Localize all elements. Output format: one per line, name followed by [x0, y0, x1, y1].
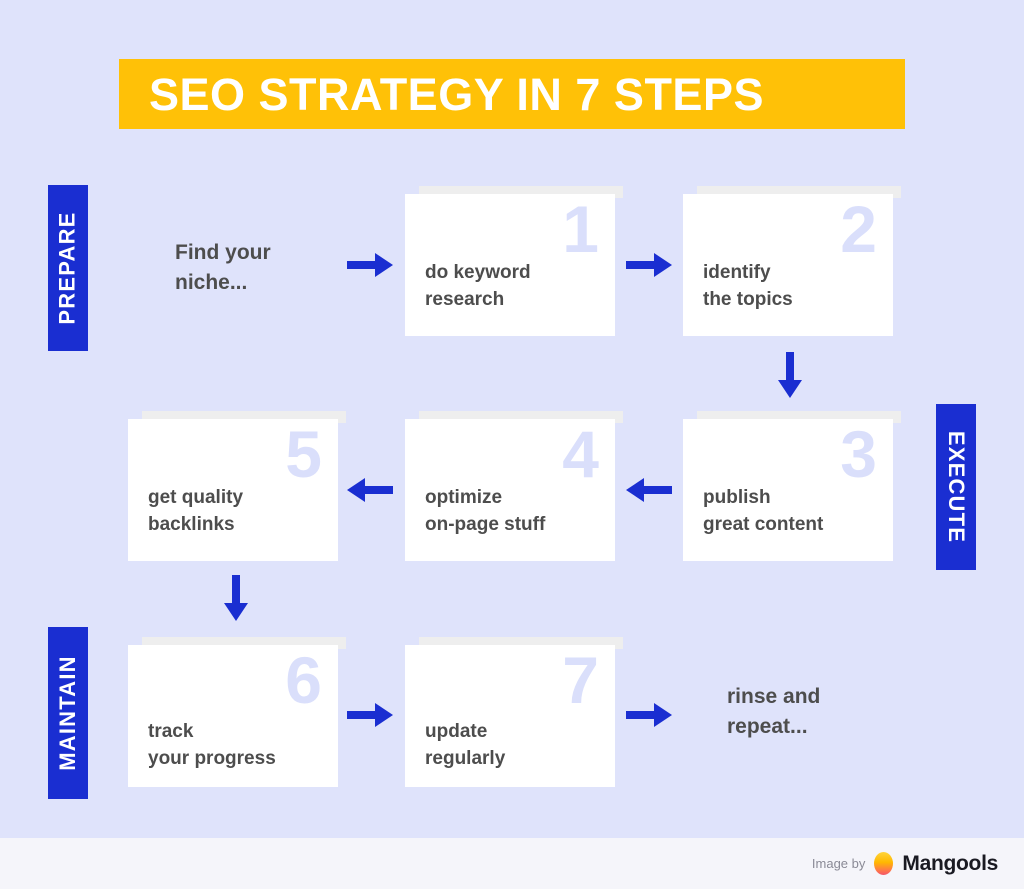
step-card-3: 3 publish great content	[683, 411, 893, 561]
arrow-left-icon	[626, 475, 672, 505]
phase-label-maintain-text: MAINTAIN	[57, 655, 79, 771]
step-text: get quality backlinks	[148, 485, 243, 539]
card-body: 3 publish great content	[683, 419, 893, 561]
step-number: 1	[562, 196, 599, 262]
step-text: do keyword research	[425, 260, 531, 314]
card-body: 4 optimize on-page stuff	[405, 419, 615, 561]
mangools-logo-icon	[874, 852, 893, 875]
page-title: SEO STRATEGY IN 7 STEPS	[149, 72, 764, 117]
step-number: 6	[285, 647, 322, 713]
step-card-4: 4 optimize on-page stuff	[405, 411, 615, 561]
arrow-left-icon	[347, 475, 393, 505]
phase-label-maintain: MAINTAIN	[48, 627, 88, 799]
step-text: identify the topics	[703, 260, 793, 314]
step-text: publish great content	[703, 485, 823, 539]
step-number: 4	[562, 421, 599, 487]
card-body: 6 track your progress	[128, 645, 338, 787]
card-body: 1 do keyword research	[405, 194, 615, 336]
step-card-6: 6 track your progress	[128, 637, 338, 787]
card-body: 2 identify the topics	[683, 194, 893, 336]
infographic-canvas: SEO STRATEGY IN 7 STEPS PREPARE EXECUTE …	[0, 0, 1024, 889]
arrow-down-icon	[775, 352, 805, 398]
step-card-7: 7 update regularly	[405, 637, 615, 787]
step-number: 5	[285, 421, 322, 487]
infographic-stage: SEO STRATEGY IN 7 STEPS PREPARE EXECUTE …	[0, 0, 1024, 838]
phase-label-prepare: PREPARE	[48, 185, 88, 351]
arrow-right-icon	[626, 700, 672, 730]
phase-label-execute-text: EXECUTE	[945, 431, 967, 543]
arrow-right-icon	[626, 250, 672, 280]
step-card-5: 5 get quality backlinks	[128, 411, 338, 561]
step-card-2: 2 identify the topics	[683, 186, 893, 336]
brand-name: Mangools	[902, 852, 998, 876]
footer: Image by Mangools	[0, 838, 1024, 889]
card-body: 7 update regularly	[405, 645, 615, 787]
card-body: 5 get quality backlinks	[128, 419, 338, 561]
start-note: Find your niche...	[175, 238, 271, 298]
step-card-1: 1 do keyword research	[405, 186, 615, 336]
phase-label-execute: EXECUTE	[936, 404, 976, 570]
title-banner: SEO STRATEGY IN 7 STEPS	[119, 59, 905, 129]
credit-label: Image by	[812, 856, 865, 871]
arrow-right-icon	[347, 700, 393, 730]
step-number: 7	[562, 647, 599, 713]
arrow-down-icon	[221, 575, 251, 621]
step-text: track your progress	[148, 719, 276, 773]
step-text: update regularly	[425, 719, 505, 773]
arrow-right-icon	[347, 250, 393, 280]
end-note: rinse and repeat...	[727, 682, 820, 742]
step-number: 2	[840, 196, 877, 262]
step-number: 3	[840, 421, 877, 487]
step-text: optimize on-page stuff	[425, 485, 545, 539]
phase-label-prepare-text: PREPARE	[57, 211, 79, 324]
